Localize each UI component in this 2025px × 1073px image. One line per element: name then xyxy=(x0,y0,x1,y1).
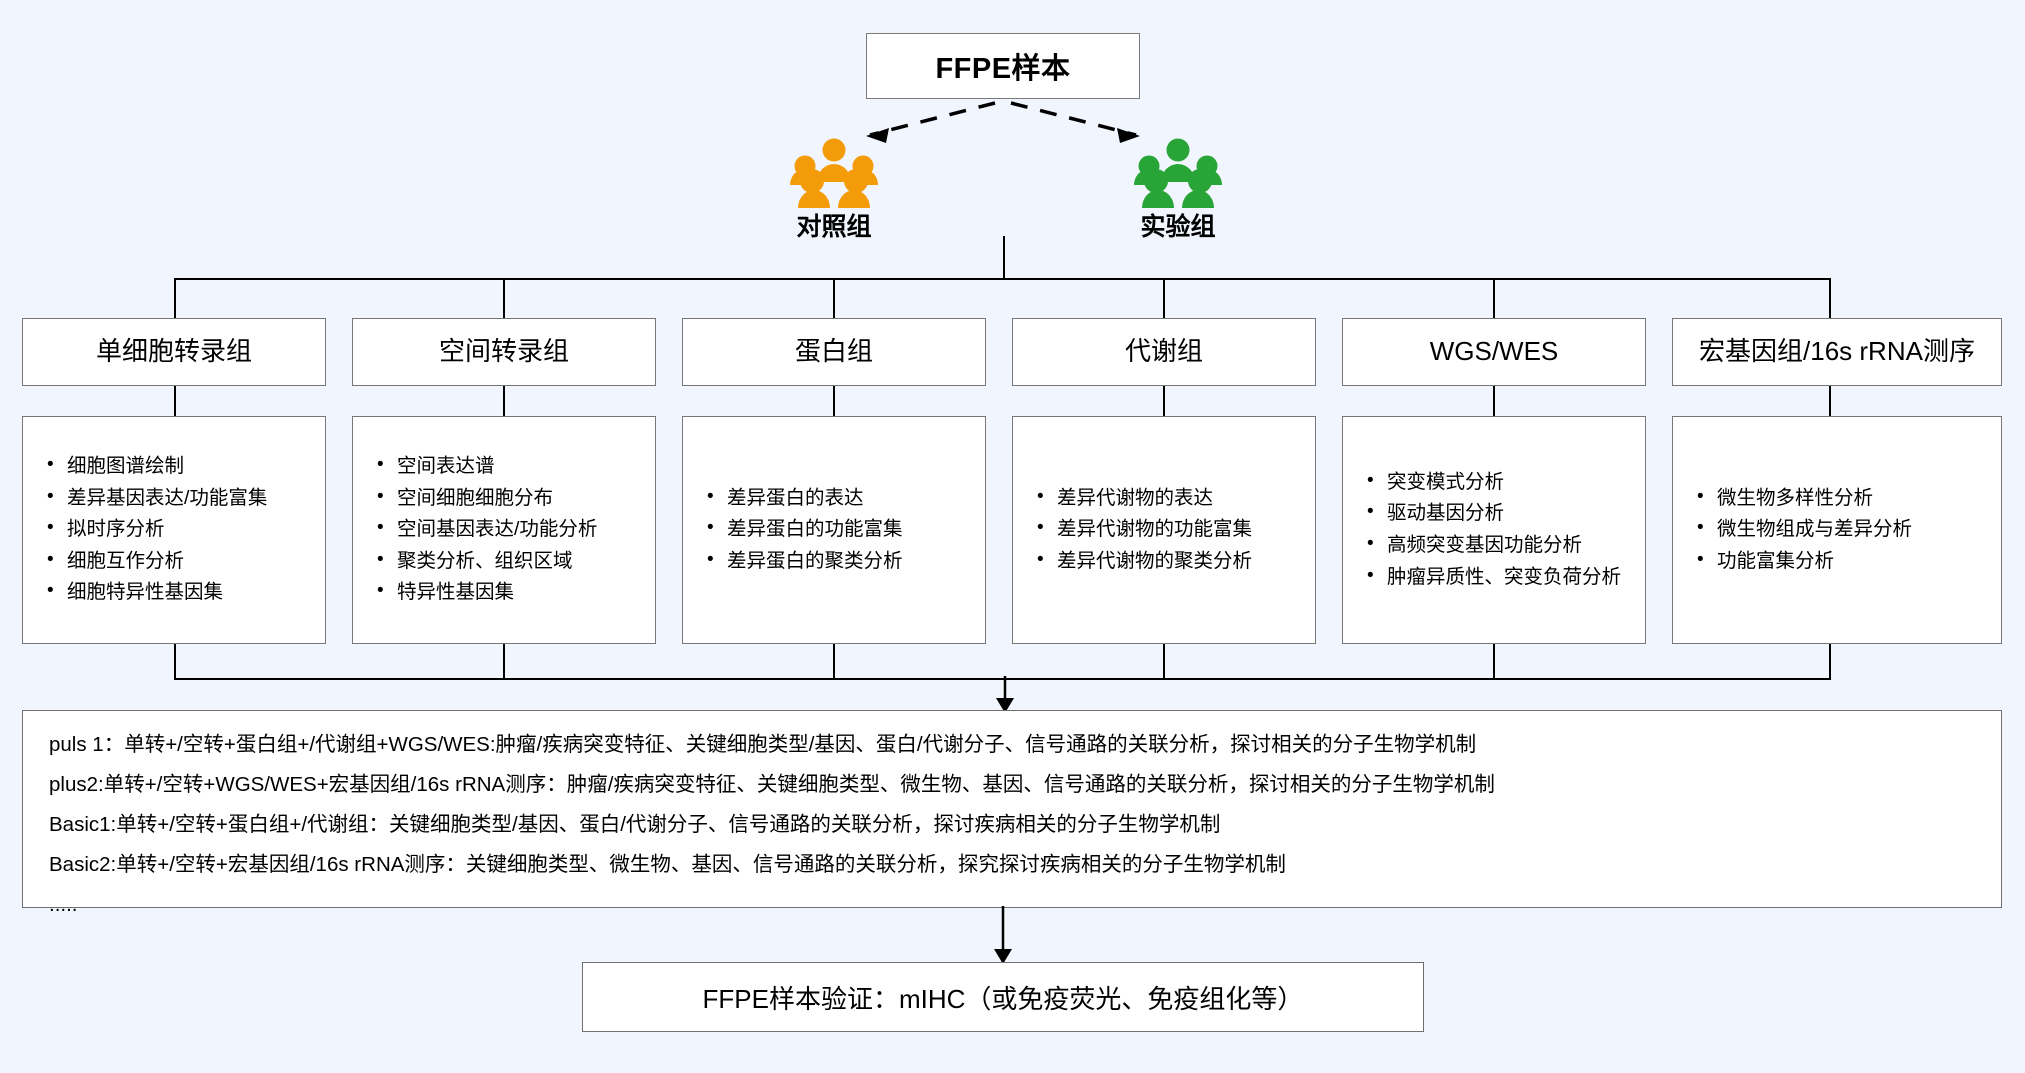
list-item: 聚类分析、组织区域 xyxy=(375,546,645,578)
people-group-icon xyxy=(1130,138,1226,210)
group-control: 对照组 xyxy=(734,138,934,242)
list-item: 空间表达谱 xyxy=(375,451,645,483)
package-line: Basic1:单转+/空转+蛋白组+/代谢组：关键细胞类型/基因、蛋白/代谢分子… xyxy=(49,805,1975,845)
bracket-bottom-leg-5 xyxy=(1493,644,1495,680)
bracket-top-bar xyxy=(175,278,1830,280)
column-body-single-cell: 细胞图谱绘制 差异基因表达/功能富集 拟时序分析 细胞互作分析 细胞特异性基因集 xyxy=(22,416,326,644)
bracket-leg-6 xyxy=(1829,278,1831,318)
list-item: 肿瘤异质性、突变负荷分析 xyxy=(1365,562,1635,594)
list-item: 空间细胞细胞分布 xyxy=(375,483,645,515)
group-experiment: 实验组 xyxy=(1078,138,1278,242)
bracket-leg-3 xyxy=(833,278,835,318)
list-item: 微生物多样性分析 xyxy=(1695,483,1991,515)
list-item: 差异代谢物的表达 xyxy=(1035,483,1305,515)
bracket-bottom-leg-6 xyxy=(1829,644,1831,680)
bracket-bottom-leg-1 xyxy=(174,644,176,680)
column-header-metagenome: 宏基因组/16s rRNA测序 xyxy=(1672,318,2002,386)
bracket-leg-4 xyxy=(1163,278,1165,318)
list-item: 驱动基因分析 xyxy=(1365,498,1635,530)
column-item-list: 差异代谢物的表达 差异代谢物的功能富集 差异代谢物的聚类分析 xyxy=(1013,483,1315,578)
column-item-list: 空间表达谱 空间细胞细胞分布 空间基因表达/功能分析 聚类分析、组织区域 特异性… xyxy=(353,451,655,609)
arrow-to-validation xyxy=(973,906,1033,966)
people-group-icon xyxy=(786,138,882,210)
list-item: 功能富集分析 xyxy=(1695,546,1991,578)
validation-box: FFPE样本验证：mIHC（或免疫荧光、免疫组化等） xyxy=(582,962,1424,1032)
column-header-label: 空间转录组 xyxy=(433,336,575,367)
column-item-list: 差异蛋白的表达 差异蛋白的功能富集 差异蛋白的聚类分析 xyxy=(683,483,985,578)
diagram-canvas: FFPE样本 对照组 xyxy=(0,0,2025,1073)
column-body-spatial: 空间表达谱 空间细胞细胞分布 空间基因表达/功能分析 聚类分析、组织区域 特异性… xyxy=(352,416,656,644)
bracket-top-stem xyxy=(1003,236,1005,280)
header-body-connector-5 xyxy=(1493,386,1495,416)
header-body-connector-6 xyxy=(1829,386,1831,416)
column-body-metagenome: 微生物多样性分析 微生物组成与差异分析 功能富集分析 xyxy=(1672,416,2002,644)
header-body-connector-3 xyxy=(833,386,835,416)
column-header-wgs-wes: WGS/WES xyxy=(1342,318,1646,386)
column-header-label: 蛋白组 xyxy=(789,336,879,367)
column-item-list: 突变模式分析 驱动基因分析 高频突变基因功能分析 肿瘤异质性、突变负荷分析 xyxy=(1343,467,1645,593)
bracket-bottom-leg-4 xyxy=(1163,644,1165,680)
column-body-metabolomics: 差异代谢物的表达 差异代谢物的功能富集 差异代谢物的聚类分析 xyxy=(1012,416,1316,644)
column-header-proteomics: 蛋白组 xyxy=(682,318,986,386)
header-body-connector-2 xyxy=(503,386,505,416)
group-experiment-label: 实验组 xyxy=(1078,214,1278,242)
package-line: Basic2:单转+/空转+宏基因组/16s rRNA测序：关键细胞类型、微生物… xyxy=(49,845,1975,885)
bracket-bottom-leg-3 xyxy=(833,644,835,680)
column-body-wgs-wes: 突变模式分析 驱动基因分析 高频突变基因功能分析 肿瘤异质性、突变负荷分析 xyxy=(1342,416,1646,644)
arrow-to-packages xyxy=(975,676,1035,714)
column-body-proteomics: 差异蛋白的表达 差异蛋白的功能富集 差异蛋白的聚类分析 xyxy=(682,416,986,644)
list-item: 差异蛋白的表达 xyxy=(705,483,975,515)
validation-label: FFPE样本验证：mIHC（或免疫荧光、免疫组化等） xyxy=(703,979,1304,1016)
column-header-spatial: 空间转录组 xyxy=(352,318,656,386)
list-item: 差异代谢物的聚类分析 xyxy=(1035,546,1305,578)
group-control-label: 对照组 xyxy=(734,214,934,242)
ffpe-sample-box: FFPE样本 xyxy=(866,33,1140,99)
list-item: 突变模式分析 xyxy=(1365,467,1635,499)
column-header-label: WGS/WES xyxy=(1424,336,1565,367)
ffpe-sample-label: FFPE样本 xyxy=(935,45,1070,87)
bracket-leg-1 xyxy=(174,278,176,318)
list-item: 细胞互作分析 xyxy=(45,546,315,578)
list-item: 特异性基因集 xyxy=(375,577,645,609)
list-item: 拟时序分析 xyxy=(45,514,315,546)
column-header-label: 宏基因组/16s rRNA测序 xyxy=(1693,336,1981,367)
list-item: 差异基因表达/功能富集 xyxy=(45,483,315,515)
package-line: puls 1：单转+/空转+蛋白组+/代谢组+WGS/WES:肿瘤/疾病突变特征… xyxy=(49,725,1975,765)
bracket-leg-5 xyxy=(1493,278,1495,318)
list-item: 微生物组成与差异分析 xyxy=(1695,514,1991,546)
column-header-single-cell: 单细胞转录组 xyxy=(22,318,326,386)
column-header-label: 单细胞转录组 xyxy=(90,336,258,367)
list-item: 细胞特异性基因集 xyxy=(45,577,315,609)
column-item-list: 细胞图谱绘制 差异基因表达/功能富集 拟时序分析 细胞互作分析 细胞特异性基因集 xyxy=(23,451,325,609)
list-item: 空间基因表达/功能分析 xyxy=(375,514,645,546)
bracket-bottom-leg-2 xyxy=(503,644,505,680)
column-header-label: 代谢组 xyxy=(1119,336,1209,367)
package-line: plus2:单转+/空转+WGS/WES+宏基因组/16s rRNA测序：肿瘤/… xyxy=(49,765,1975,805)
column-header-metabolomics: 代谢组 xyxy=(1012,318,1316,386)
list-item: 细胞图谱绘制 xyxy=(45,451,315,483)
column-item-list: 微生物多样性分析 微生物组成与差异分析 功能富集分析 xyxy=(1673,483,2001,578)
list-item: 差异蛋白的聚类分析 xyxy=(705,546,975,578)
bracket-leg-2 xyxy=(503,278,505,318)
packages-box: puls 1：单转+/空转+蛋白组+/代谢组+WGS/WES:肿瘤/疾病突变特征… xyxy=(22,710,2002,908)
header-body-connector-4 xyxy=(1163,386,1165,416)
list-item: 差异蛋白的功能富集 xyxy=(705,514,975,546)
header-body-connector-1 xyxy=(174,386,176,416)
list-item: 高频突变基因功能分析 xyxy=(1365,530,1635,562)
list-item: 差异代谢物的功能富集 xyxy=(1035,514,1305,546)
